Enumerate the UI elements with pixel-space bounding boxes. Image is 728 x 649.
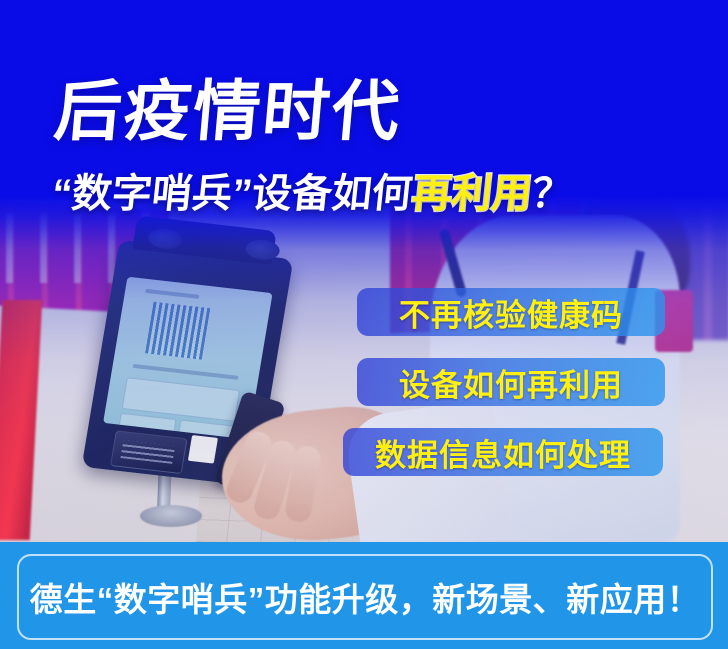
topic-badge-label: 数据信息如何处理 xyxy=(375,430,631,475)
topic-badge-label: 不再核验健康码 xyxy=(399,290,623,335)
page-subtitle: “数字哨兵”设备如何再利用？ xyxy=(50,174,574,214)
subtitle-prefix: “数字哨兵”设备如何 xyxy=(50,172,415,216)
bottom-banner-frame: 德生“数字哨兵”功能升级，新场景、新应用！ xyxy=(17,554,713,640)
topic-badge[interactable]: 数据信息如何处理 xyxy=(343,428,663,476)
bottom-banner: 德生“数字哨兵”功能升级，新场景、新应用！ xyxy=(0,542,728,649)
topic-badge-label: 设备如何再利用 xyxy=(399,360,623,405)
bottom-banner-text: 德生“数字哨兵”功能升级，新场景、新应用！ xyxy=(30,573,701,621)
topic-badge[interactable]: 设备如何再利用 xyxy=(357,358,665,406)
subtitle-highlight: 再利用 xyxy=(410,172,535,216)
topic-badge-list: 不再核验健康码 设备如何再利用 数据信息如何处理 xyxy=(357,288,665,498)
subtitle-question-mark: ？ xyxy=(530,172,575,216)
topic-badge[interactable]: 不再核验健康码 xyxy=(357,288,665,336)
poster: 后疫情时代 “数字哨兵”设备如何再利用？ 不再核验健康码 设备如何再利用 数据信… xyxy=(0,0,728,649)
page-title: 后疫情时代 xyxy=(52,78,405,144)
